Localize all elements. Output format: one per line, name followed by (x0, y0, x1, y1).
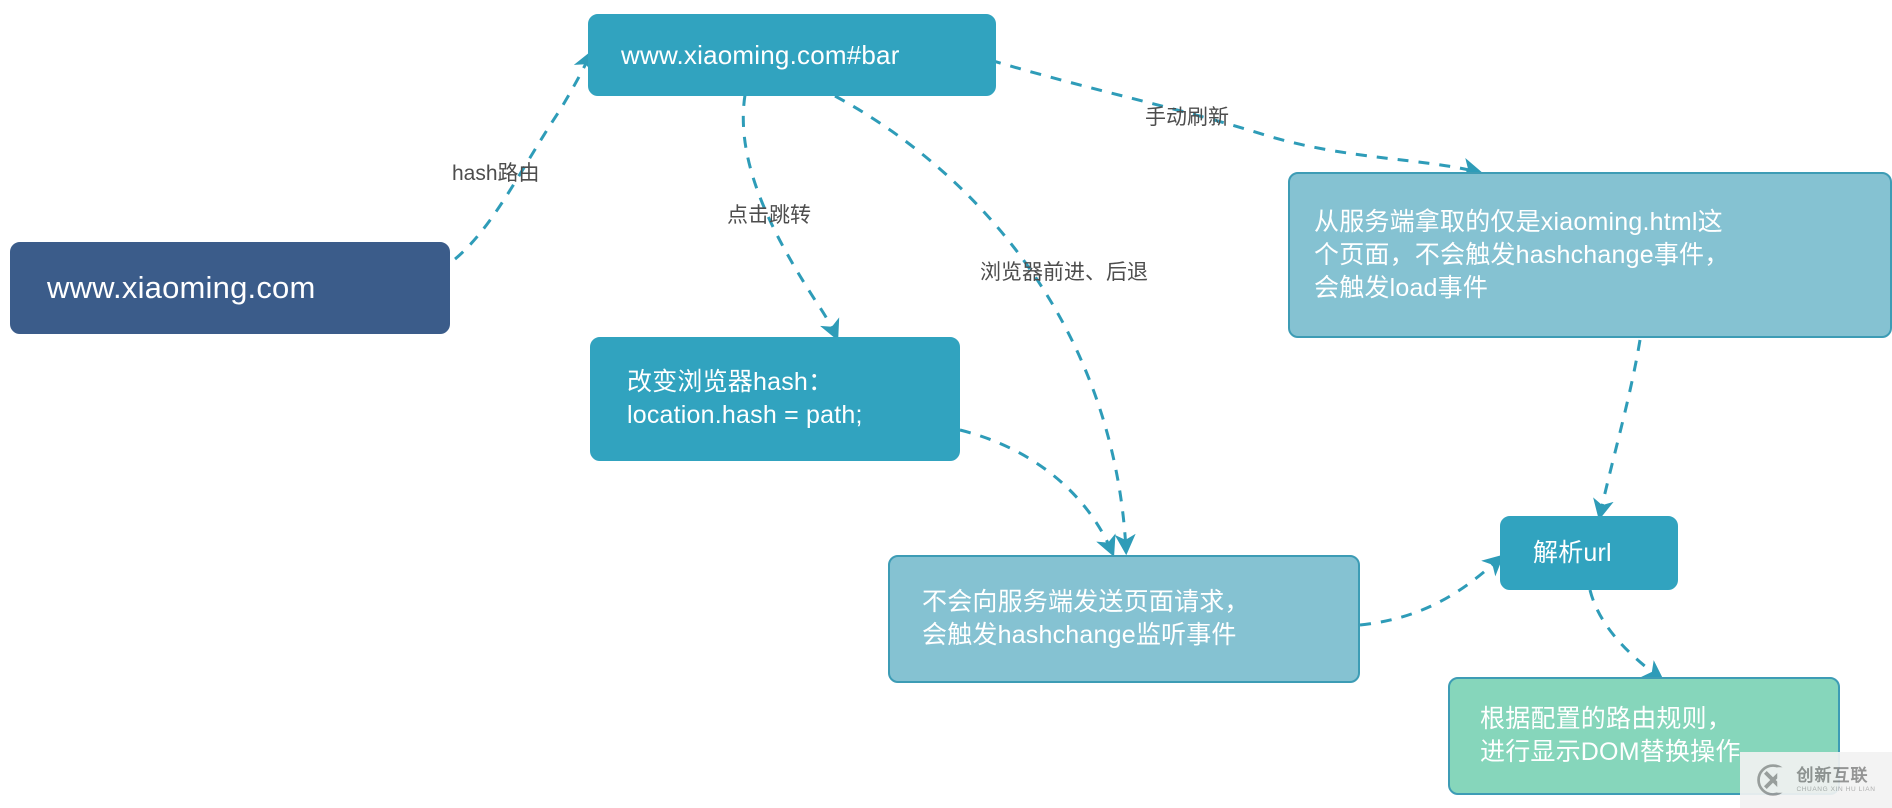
node-hash-url-label: www.xiaoming.com#bar (621, 38, 995, 72)
watermark-logo-icon (1756, 763, 1790, 797)
node-hash-url[interactable]: www.xiaoming.com#bar (588, 14, 996, 96)
node-no-server-request[interactable]: 不会向服务端发送页面请求， 会触发hashchange监听事件 (888, 555, 1360, 683)
node-root-url[interactable]: www.xiaoming.com (10, 242, 450, 334)
node-parse-url[interactable]: 解析url (1500, 516, 1678, 590)
node-server-fetch-label: 从服务端拿取的仅是xiaoming.html这 个页面，不会触发hashchan… (1314, 206, 1890, 305)
edge-hashurl-to-serverfetch (990, 60, 1478, 172)
watermark-cn-label: 创新互联 (1796, 767, 1875, 784)
watermark-chuangxinhulian: 创新互联 CHUANG XIN HU LIAN (1740, 752, 1892, 808)
edge-label-manual-refresh: 手动刷新 (1145, 101, 1229, 131)
edge-norequest-to-parseurl (1360, 558, 1500, 625)
node-no-server-request-label: 不会向服务端发送页面请求， 会触发hashchange监听事件 (922, 586, 1358, 652)
edge-label-click-jump: 点击跳转 (727, 199, 811, 229)
edge-hashurl-to-norequest (835, 96, 1126, 550)
edge-label-hash-route: hash路由 (452, 157, 540, 187)
diagram-canvas: www.xiaoming.com www.xiaoming.com#bar 改变… (0, 0, 1892, 808)
edge-changehash-to-norequest (960, 430, 1112, 552)
watermark-text: 创新互联 CHUANG XIN HU LIAN (1796, 767, 1875, 794)
node-change-hash[interactable]: 改变浏览器hash： location.hash = path; (590, 337, 960, 461)
node-root-url-label: www.xiaoming.com (47, 268, 449, 309)
node-server-fetch[interactable]: 从服务端拿取的仅是xiaoming.html这 个页面，不会触发hashchan… (1288, 172, 1892, 338)
watermark-en-label: CHUANG XIN HU LIAN (1796, 787, 1875, 794)
edge-label-browser-nav: 浏览器前进、后退 (980, 256, 1148, 286)
edge-parseurl-to-domreplace (1590, 590, 1660, 678)
node-change-hash-label: 改变浏览器hash： location.hash = path; (627, 366, 959, 432)
edge-serverfetch-to-parseurl (1600, 340, 1640, 515)
node-parse-url-label: 解析url (1533, 537, 1677, 570)
